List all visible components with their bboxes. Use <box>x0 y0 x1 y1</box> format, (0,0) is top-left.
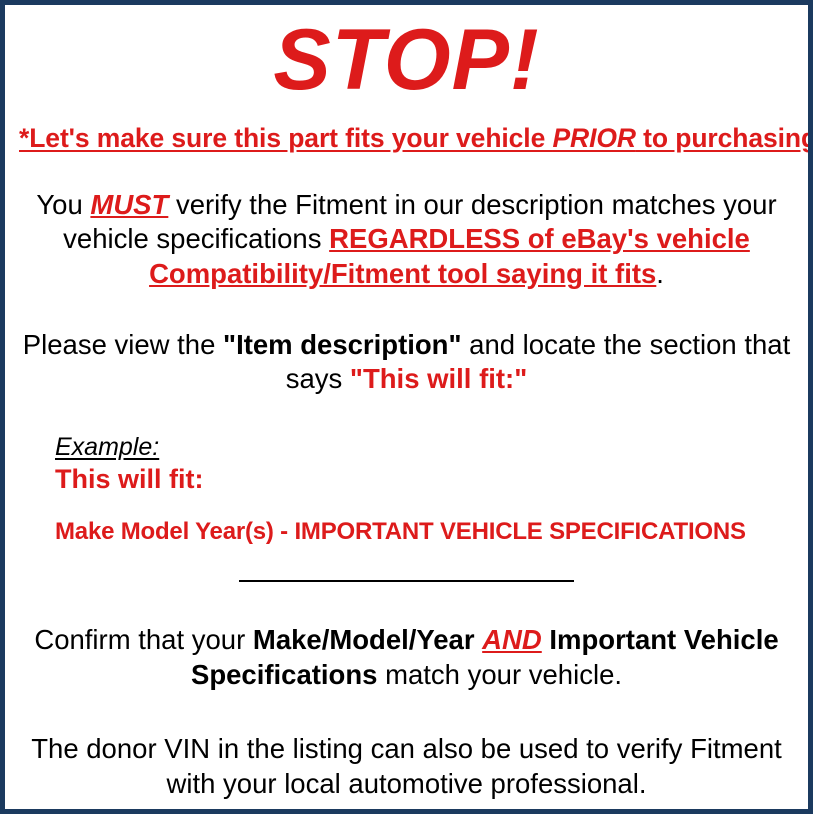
subtitle-banner: *Let's make sure this part fits your veh… <box>19 123 794 154</box>
example-fit-heading: This will fit: <box>55 464 794 495</box>
divider-wrapper <box>19 572 794 590</box>
paragraph-must-verify: You MUST verify the Fitment in our descr… <box>19 188 794 292</box>
example-block: Example: This will fit: Make Model Year(… <box>19 433 794 546</box>
fitment-notice-card: STOP! *Let's make sure this part fits yo… <box>0 0 813 814</box>
must-part-3: . <box>656 258 664 289</box>
view-part-1: Please view the <box>23 329 223 360</box>
subtitle-tail-text: to purchasing* <box>636 123 813 153</box>
confirm-part-1: Confirm that your <box>34 624 253 655</box>
section-divider <box>239 580 574 582</box>
confirm-part-4: match your vehicle. <box>377 659 622 690</box>
must-part-1: You <box>36 189 90 220</box>
example-spec-line: Make Model Year(s) - IMPORTANT VEHICLE S… <box>55 518 794 546</box>
paragraph-donor-vin: The donor VIN in the listing can also be… <box>19 732 794 801</box>
paragraph-confirm-match: Confirm that your Make/Model/Year AND Im… <box>19 623 794 692</box>
emphasis-and: AND <box>482 624 542 655</box>
emphasis-item-description: "Item description" <box>223 329 461 360</box>
example-label: Example: <box>55 433 794 462</box>
paragraph-view-description: Please view the "Item description" and l… <box>19 328 794 397</box>
emphasis-this-will-fit: "This will fit:" <box>350 363 527 394</box>
notice-content: STOP! *Let's make sure this part fits yo… <box>5 5 808 809</box>
subtitle-emphasis-prior: PRIOR <box>552 123 635 153</box>
emphasis-must: MUST <box>90 189 168 220</box>
page-title: STOP! <box>19 5 794 105</box>
emphasis-make-model-year: Make/Model/Year <box>253 624 475 655</box>
subtitle-lead-text: *Let's make sure this part fits your veh… <box>19 123 552 153</box>
